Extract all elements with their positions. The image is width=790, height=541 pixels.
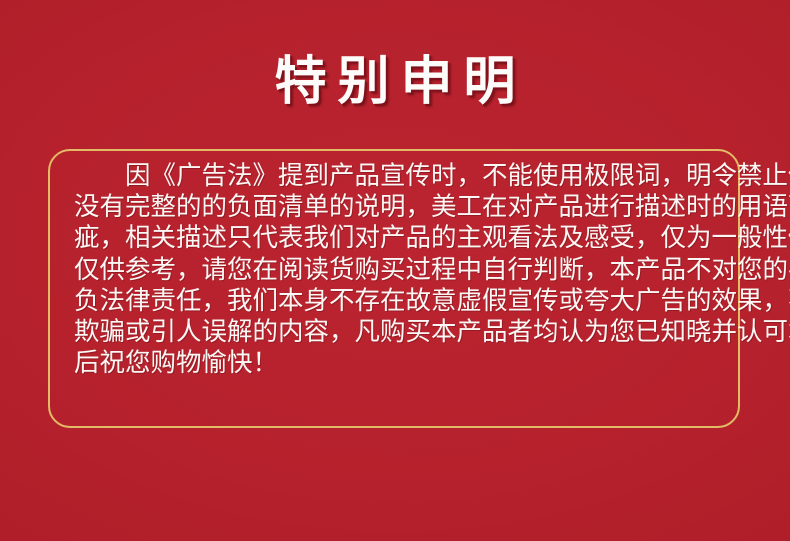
statement-line: 后祝您购物愉快！ — [74, 348, 718, 379]
statement-line: 负法律责任，我们本身不存在故意虚假宣传或夸大广告的效果，不存在故意 — [74, 286, 718, 317]
statement-line: 欺骗或引人误解的内容，凡购买本产品者均认为您已知晓并认可本声明。最 — [74, 317, 718, 348]
statement-line: 没有完整的的负面清单的说明，美工在对产品进行描述时的用语可能存在瑕 — [74, 192, 718, 223]
title-area: 特别申明 — [0, 52, 790, 112]
statement-line: 仅供参考，请您在阅读货购买过程中自行判断，本产品不对您的判断和理解 — [74, 255, 718, 286]
statement-line: 疵，相关描述只代表我们对产品的主观看法及感受，仅为一般性修饰词语， — [74, 223, 718, 254]
special-statement-banner: 特别申明 因《广告法》提到产品宣传时，不能使用极限词，明令禁止使用但暂 没有完整… — [0, 0, 790, 541]
page-title: 特别申明 — [263, 52, 526, 112]
statement-line: 因《广告法》提到产品宣传时，不能使用极限词，明令禁止使用但暂 — [74, 161, 718, 192]
statement-frame: 因《广告法》提到产品宣传时，不能使用极限词，明令禁止使用但暂 没有完整的的负面清… — [48, 149, 740, 428]
statement-text-block: 因《广告法》提到产品宣传时，不能使用极限词，明令禁止使用但暂 没有完整的的负面清… — [74, 161, 718, 379]
